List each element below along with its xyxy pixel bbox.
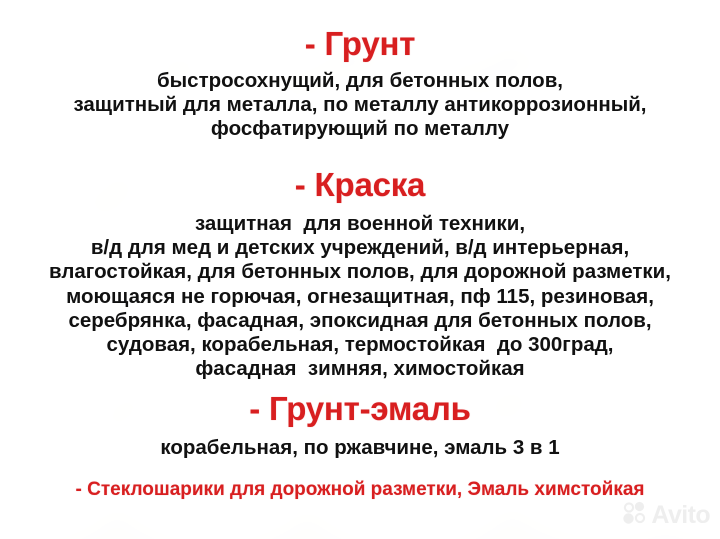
footer-red-line: - Стеклошарики для дорожной разметки, Эм… [0, 479, 720, 501]
advert-content: - Грунт быстросохнущий, для бетонных пол… [0, 0, 720, 539]
body-line: быстросохнущий, для бетонных полов, [0, 69, 720, 93]
body-line: корабельная, по ржавчине, эмаль 3 в 1 [0, 436, 720, 460]
body-line: судовая, корабельная, термостойкая до 30… [0, 333, 720, 357]
text-block-grunt: быстросохнущий, для бетонных полов, защи… [0, 69, 720, 142]
heading-grunt-emal: - Грунт-эмаль [0, 392, 720, 425]
body-line: в/д для мед и детских учреждений, в/д ин… [0, 236, 720, 260]
body-line: защитный для металла, по металлу антикор… [0, 93, 720, 117]
body-line: моющаяся не горючая, огнезащитная, пф 11… [0, 285, 720, 309]
body-line: серебрянка, фасадная, эпоксидная для бет… [0, 309, 720, 333]
heading-grunt: - Грунт [0, 27, 720, 60]
body-line: фасадная зимняя, химостойкая [0, 357, 720, 381]
body-line: защитная для военной техники, [0, 212, 720, 236]
text-block-kraska: защитная для военной техники, в/д для ме… [0, 212, 720, 381]
advert-flyer: - Грунт быстросохнущий, для бетонных пол… [0, 0, 720, 539]
body-line: фосфатирующий по металлу [0, 117, 720, 141]
heading-kraska: - Краска [0, 168, 720, 201]
body-line: влагостойкая, для бетонных полов, для до… [0, 260, 720, 284]
text-block-grunt-emal: корабельная, по ржавчине, эмаль 3 в 1 [0, 436, 720, 460]
